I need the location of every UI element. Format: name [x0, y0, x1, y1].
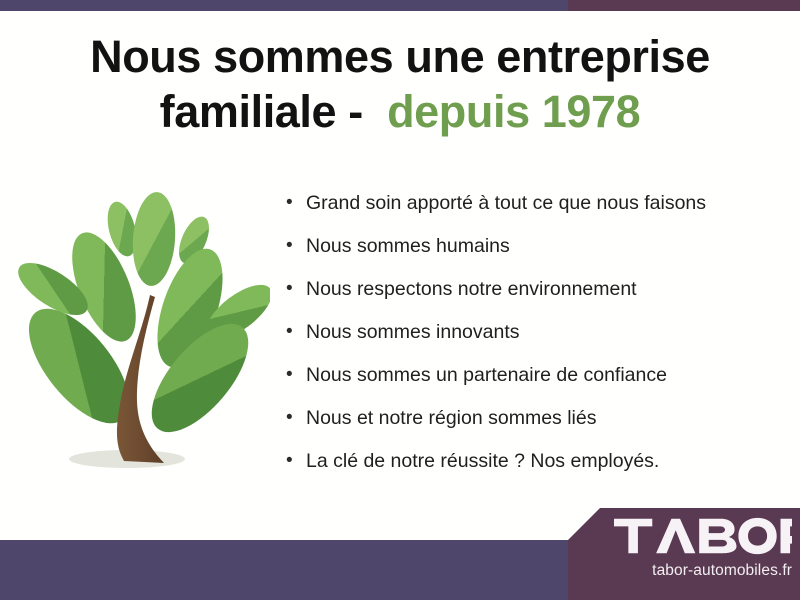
list-item-label: Nous et notre région sommes liés [306, 405, 596, 431]
list-item-label: Nous sommes innovants [306, 319, 520, 345]
tree-illustration [14, 182, 270, 488]
list-item: • La clé de notre réussite ? Nos employé… [286, 448, 786, 491]
list-item: • Nous sommes un partenaire de confiance [286, 362, 786, 405]
list-item-label: Nous sommes un partenaire de confiance [306, 362, 667, 388]
bullet-dot-icon: • [286, 276, 306, 302]
brand-tagline: tabor-automobiles.fr [614, 562, 792, 580]
leaf-top-center [130, 191, 178, 288]
title-line-2: familiale - depuis 1978 [0, 89, 800, 135]
brand-logo: tabor-automobiles.fr [614, 516, 800, 580]
list-item-label: Grand soin apporté à tout ce que nous fa… [306, 190, 706, 216]
page-title: Nous sommes une entreprise familiale - d… [0, 34, 800, 135]
bullet-dot-icon: • [286, 362, 306, 388]
list-item-label: Nous respectons notre environnement [306, 276, 637, 302]
tabor-wordmark [614, 516, 792, 556]
bullet-list: • Grand soin apporté à tout ce que nous … [286, 190, 786, 491]
list-item: • Nous et notre région sommes liés [286, 405, 786, 448]
bullet-dot-icon: • [286, 405, 306, 431]
bullet-dot-icon: • [286, 319, 306, 345]
title-line-2-accent: depuis 1978 [387, 86, 640, 137]
list-item-label: Nous sommes humains [306, 233, 510, 259]
bullet-dot-icon: • [286, 233, 306, 259]
list-item: • Nous respectons notre environnement [286, 276, 786, 319]
list-item: • Nous sommes humains [286, 233, 786, 276]
slide-canvas: Nous sommes une entreprise familiale - d… [0, 0, 800, 600]
top-accent-bar [0, 0, 800, 11]
list-item: • Nous sommes innovants [286, 319, 786, 362]
title-line-1: Nous sommes une entreprise [0, 34, 800, 80]
bullet-dot-icon: • [286, 190, 306, 216]
bullet-dot-icon: • [286, 448, 306, 474]
top-accent-bar-right [568, 0, 800, 11]
list-item: • Grand soin apporté à tout ce que nous … [286, 190, 786, 233]
title-line-2-main: familiale - [160, 86, 363, 137]
list-item-label: La clé de notre réussite ? Nos employés. [306, 448, 659, 474]
top-accent-bar-left [0, 0, 568, 11]
